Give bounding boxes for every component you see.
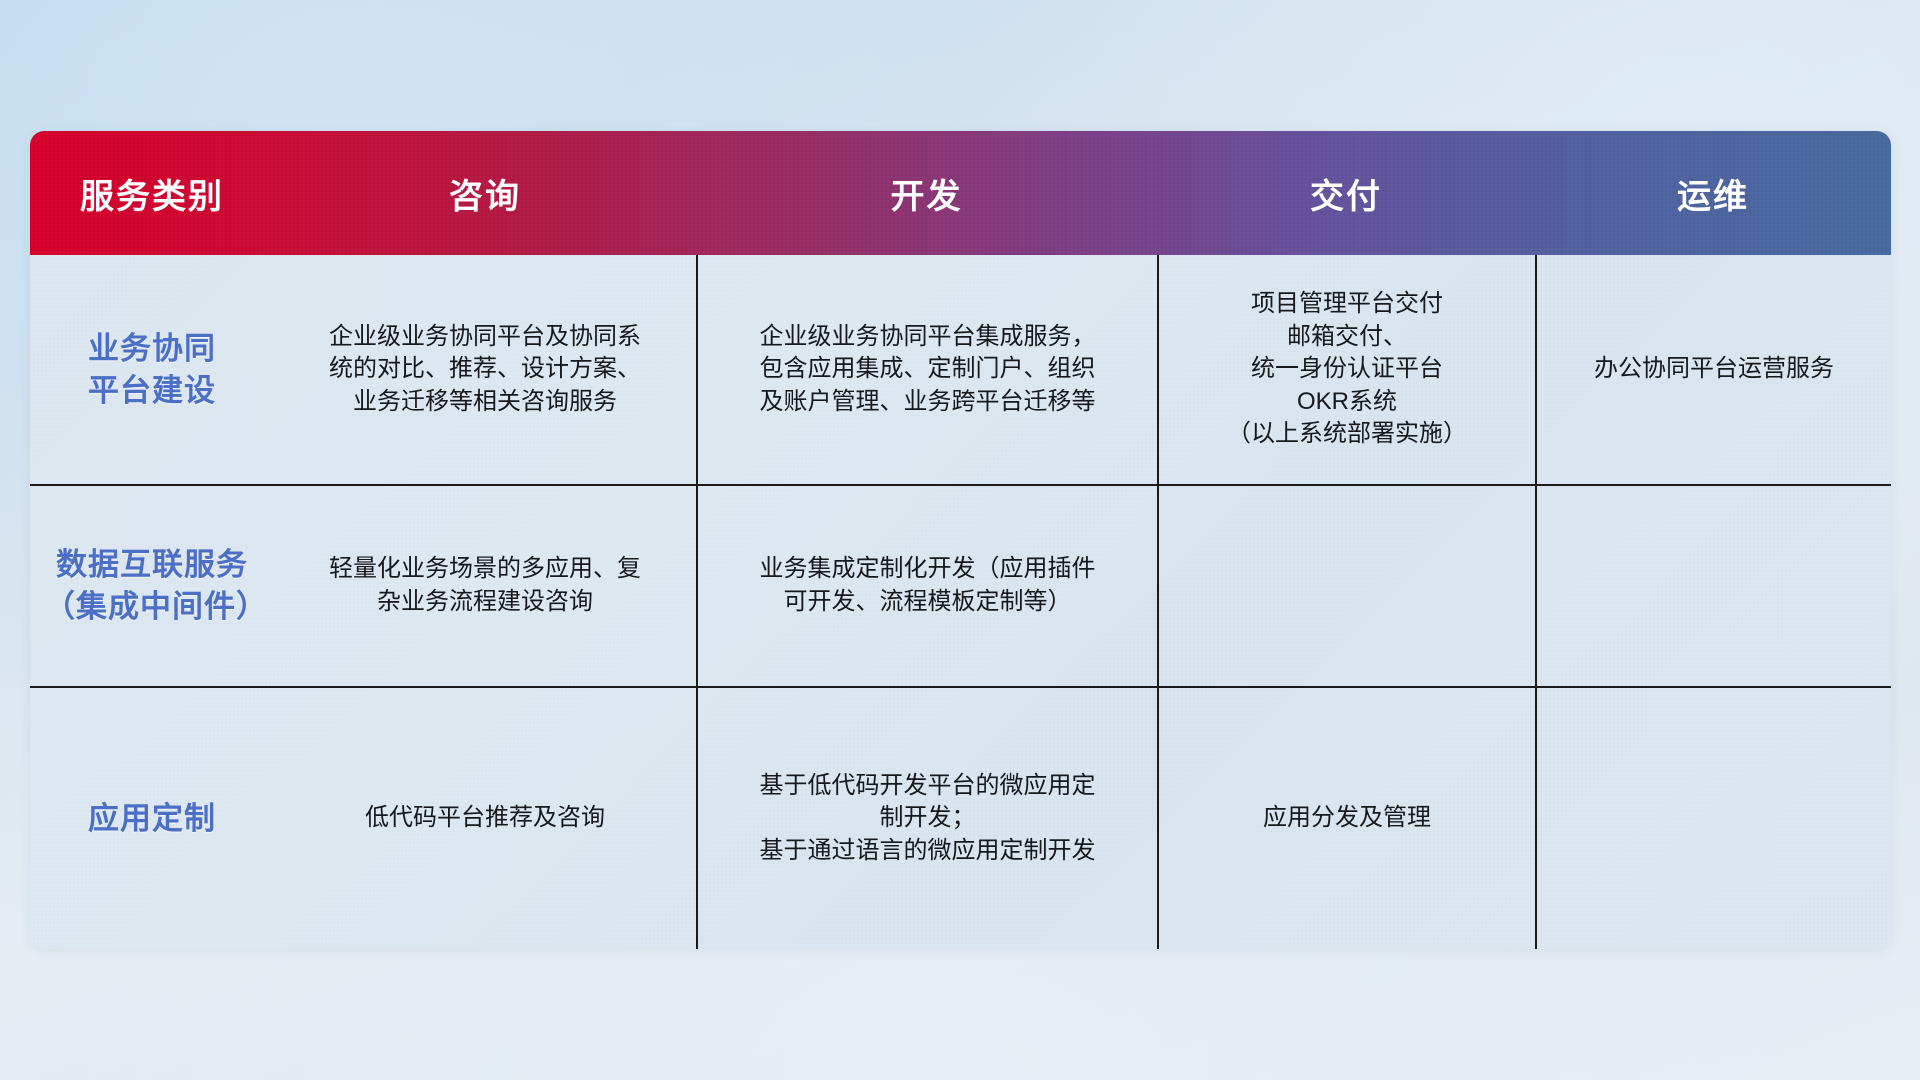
cell-consulting: 轻量化业务场景的多应用、复 杂业务流程建设咨询 (274, 486, 696, 686)
table-row: 数据互联服务 （集成中间件） 轻量化业务场景的多应用、复 杂业务流程建设咨询 业… (30, 486, 1891, 688)
service-matrix-table: 服务类别 咨询 开发 交付 运维 业务协同 平台建设 企业级业务协同平台及协同系… (30, 131, 1891, 949)
cell-delivery: 应用分发及管理 (1157, 688, 1535, 949)
table-row: 业务协同 平台建设 企业级业务协同平台及协同系 统的对比、推荐、设计方案、 业务… (30, 255, 1891, 486)
cell-development: 企业级业务协同平台集成服务， 包含应用集成、定制门户、组织 及账户管理、业务跨平… (696, 255, 1157, 484)
column-header-development: 开发 (696, 131, 1157, 255)
column-header-category: 服务类别 (30, 131, 274, 255)
table-body: 业务协同 平台建设 企业级业务协同平台及协同系 统的对比、推荐、设计方案、 业务… (30, 255, 1891, 949)
column-header-delivery: 交付 (1157, 131, 1535, 255)
cell-consulting: 低代码平台推荐及咨询 (274, 688, 696, 949)
table-row: 应用定制 低代码平台推荐及咨询 基于低代码开发平台的微应用定 制开发； 基于通过… (30, 688, 1891, 949)
column-header-operations: 运维 (1535, 131, 1891, 255)
cell-operations (1535, 486, 1891, 686)
row-category-label: 数据互联服务 （集成中间件） (30, 486, 274, 686)
column-header-consulting: 咨询 (274, 131, 696, 255)
cell-consulting: 企业级业务协同平台及协同系 统的对比、推荐、设计方案、 业务迁移等相关咨询服务 (274, 255, 696, 484)
cell-operations (1535, 688, 1891, 949)
service-matrix-table-wrapper: 服务类别 咨询 开发 交付 运维 业务协同 平台建设 企业级业务协同平台及协同系… (30, 131, 1891, 949)
cell-delivery (1157, 486, 1535, 686)
cell-development: 业务集成定制化开发（应用插件 可开发、流程模板定制等） (696, 486, 1157, 686)
row-category-label: 业务协同 平台建设 (30, 255, 274, 484)
slide-canvas: 服务类别 咨询 开发 交付 运维 业务协同 平台建设 企业级业务协同平台及协同系… (0, 0, 1920, 1080)
row-category-label: 应用定制 (30, 688, 274, 949)
table-header-row: 服务类别 咨询 开发 交付 运维 (30, 131, 1891, 255)
cell-operations: 办公协同平台运营服务 (1535, 255, 1891, 484)
cell-development: 基于低代码开发平台的微应用定 制开发； 基于通过语言的微应用定制开发 (696, 688, 1157, 949)
cell-delivery: 项目管理平台交付 邮箱交付、 统一身份认证平台 OKR系统 （以上系统部署实施） (1157, 255, 1535, 484)
